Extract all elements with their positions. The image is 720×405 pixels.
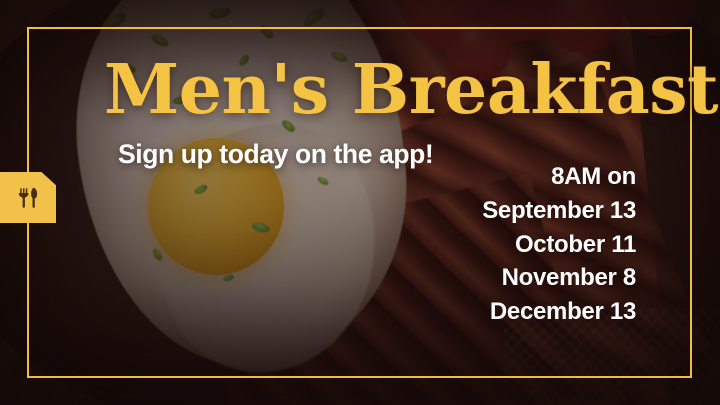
- schedule-date: November 8: [482, 261, 636, 295]
- schedule-list: 8AM on September 13 October 11 November …: [482, 160, 636, 329]
- schedule-date: December 13: [482, 295, 636, 329]
- fork-and-knife-icon: [14, 185, 42, 211]
- schedule-date: September 13: [482, 194, 636, 228]
- schedule-date: October 11: [482, 228, 636, 262]
- fork-and-knife-badge: [0, 172, 56, 223]
- breakfast-announcement-poster: Men's Breakfast Sign up today on the app…: [0, 0, 720, 405]
- schedule-time: 8AM on: [482, 160, 636, 194]
- subtitle-call-to-action: Sign up today on the app!: [118, 139, 433, 170]
- page-title: Men's Breakfast: [104, 56, 718, 124]
